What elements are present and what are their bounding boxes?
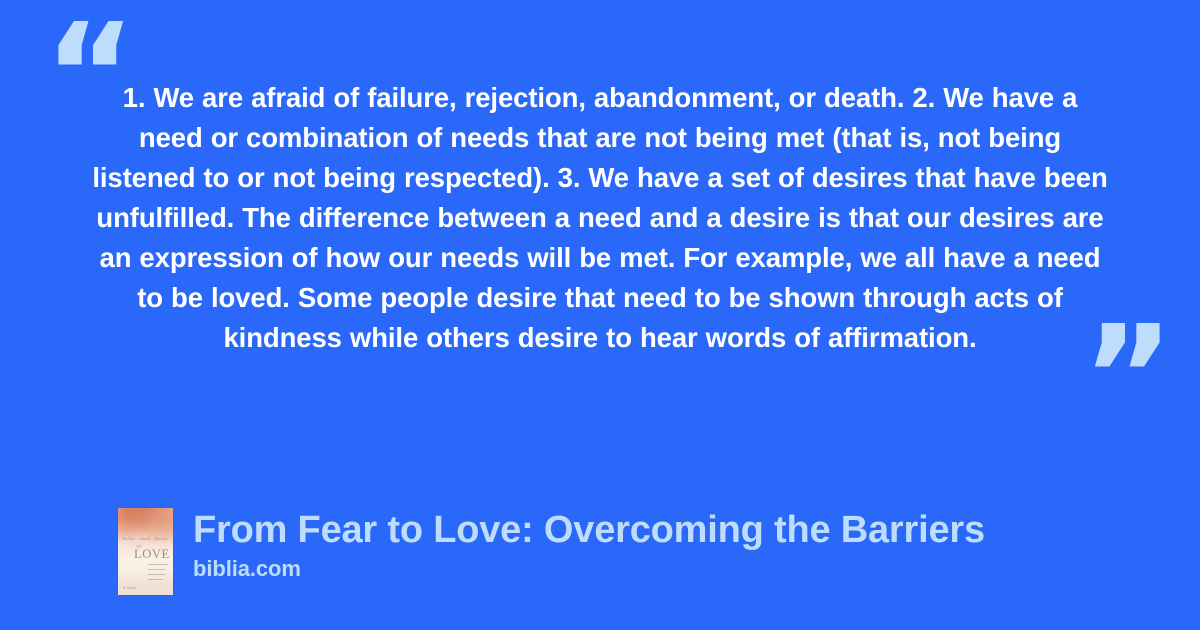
quote-block: 1. We are afraid of failure, rejection, … [92, 78, 1108, 358]
quote-text: 1. We are afraid of failure, rejection, … [92, 78, 1108, 358]
book-cover-textlines [148, 564, 168, 584]
attribution[interactable]: McGee · Smith · Barrier TO LOVE A Guide … [118, 508, 985, 595]
source-name[interactable]: biblia.com [193, 556, 985, 582]
quote-card: “ 1. We are afraid of failure, rejection… [0, 0, 1200, 630]
book-cover-author: McGee · Smith · Barrier [122, 537, 169, 541]
closing-quote-icon: ” [1082, 308, 1176, 448]
book-title[interactable]: From Fear to Love: Overcoming the Barrie… [193, 508, 985, 552]
book-cover-title: LOVE [134, 548, 170, 561]
book-cover-thumbnail[interactable]: McGee · Smith · Barrier TO LOVE A Guide [118, 508, 173, 595]
book-cover-publisher: A Guide [123, 586, 136, 590]
attribution-text: From Fear to Love: Overcoming the Barrie… [193, 508, 985, 582]
